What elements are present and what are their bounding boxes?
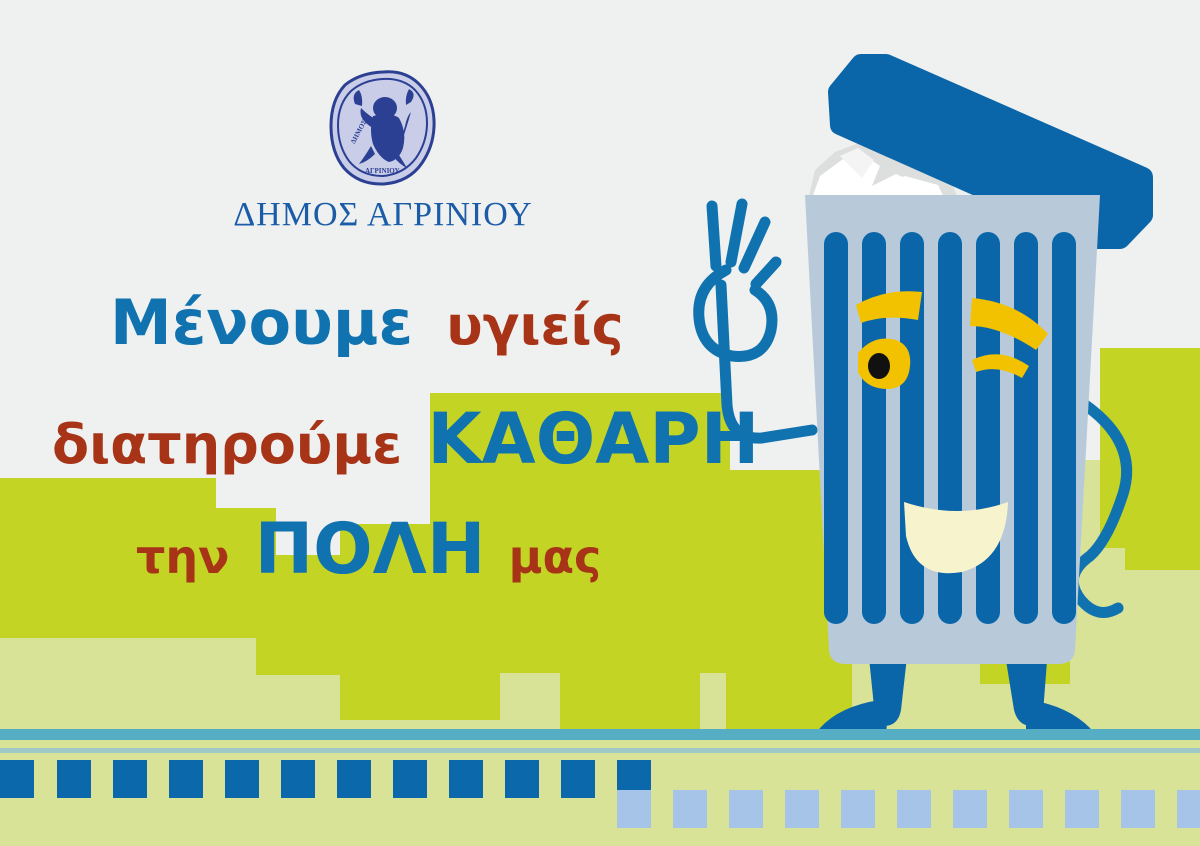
logo-block: ΔΗΜΟΣ ΑΓΡΙΝΙΟΥ ΔΗΜΟΣ ΑΓΡΙΝΙΟΥ [218,68,548,258]
footer-strip [0,0,1200,846]
footer-squares-light [617,790,1200,828]
municipality-name: ΔΗΜΟΣ ΑΓΡΙΝΙΟΥ [218,196,548,234]
svg-text:ΑΓΡΙΝΙΟΥ: ΑΓΡΙΝΙΟΥ [365,167,400,175]
municipal-crest-emblem: ΔΗΜΟΣ ΑΓΡΙΝΙΟΥ [327,68,439,188]
poster-canvas: ΔΗΜΟΣ ΑΓΡΙΝΙΟΥ ΔΗΜΟΣ ΑΓΡΙΝΙΟΥ Μένουμε υγ… [0,0,1200,846]
footer-squares-dark [0,760,651,798]
